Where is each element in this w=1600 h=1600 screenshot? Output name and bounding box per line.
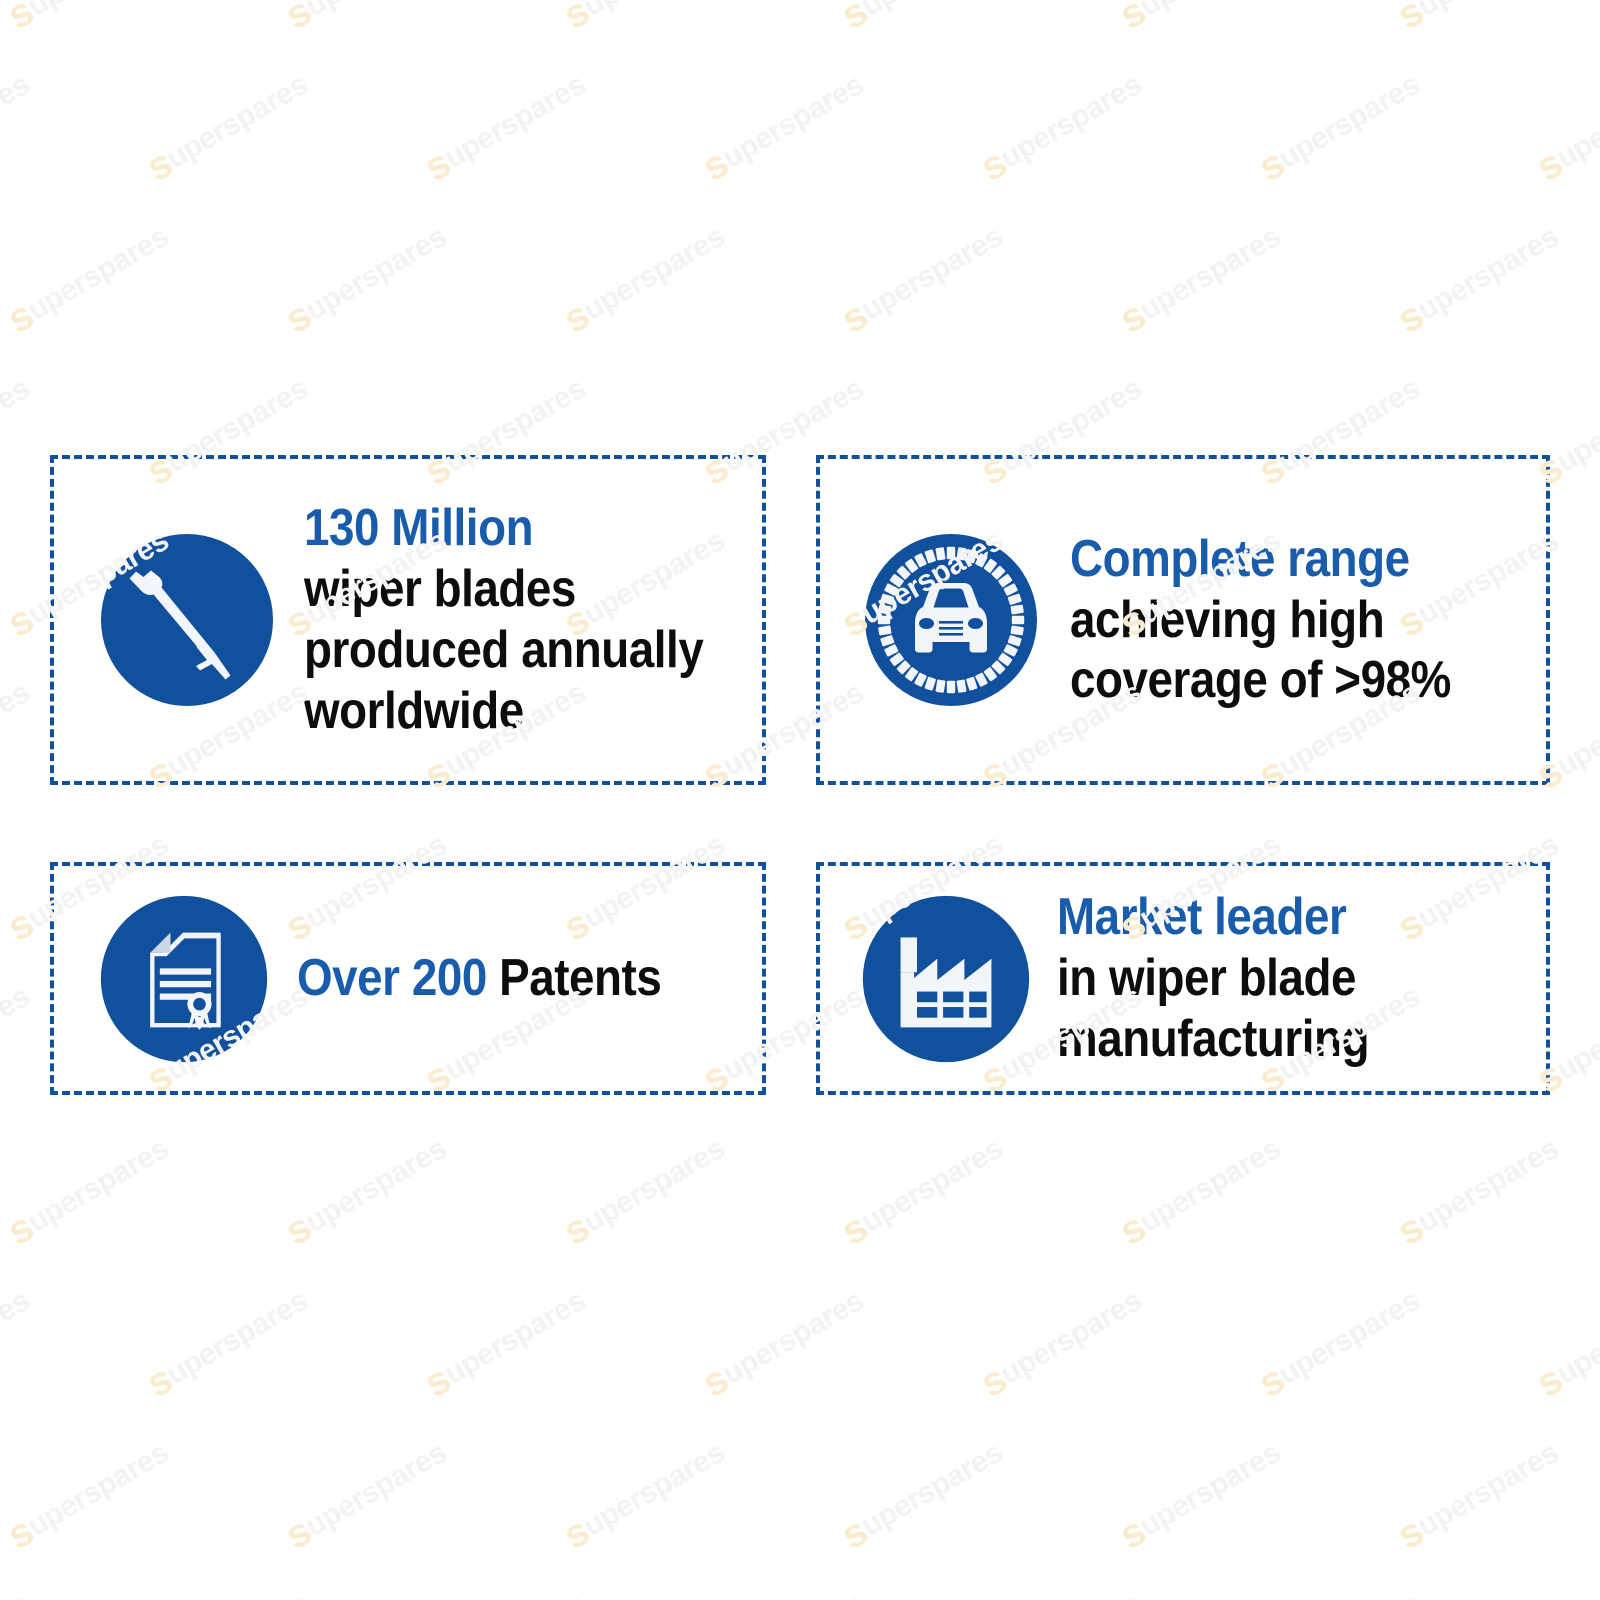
card-line: achieving high: [1070, 590, 1489, 651]
watermark-text: superspares: [973, 63, 1150, 191]
card-line: produced annually: [304, 620, 707, 681]
card-line: wiper blades: [304, 559, 707, 620]
watermark-text: superspares: [139, 1583, 316, 1600]
watermark-text: superspares: [0, 1279, 38, 1407]
factory-icon: [838, 891, 1053, 1067]
card-line: in wiper blade: [1057, 948, 1487, 1009]
watermark-text: superspares: [0, 671, 38, 799]
watermark-text: superspares: [556, 0, 733, 39]
card-coverage-range[interactable]: Complete range achieving high coverage o…: [816, 455, 1550, 785]
card-line: manufacturing: [1057, 1009, 1487, 1070]
watermark-text: superspares: [1251, 63, 1428, 191]
card-patents-text: Over 200 Patents: [297, 948, 706, 1009]
watermark-text: superspares: [278, 1431, 455, 1559]
watermark-text: superspares: [0, 0, 177, 39]
card-line: Market leader: [1057, 887, 1487, 948]
watermark-text: superspares: [0, 63, 38, 191]
watermark-text: superspares: [278, 0, 455, 39]
watermark-text: superspares: [556, 1127, 733, 1255]
watermark-text: superspares: [417, 63, 594, 191]
watermark-text: superspares: [0, 975, 38, 1103]
card-patents[interactable]: Over 200 Patents: [50, 862, 766, 1095]
car-in-ring-icon: [836, 529, 1066, 711]
card-coverage-range-text: Complete range achieving high coverage o…: [1070, 529, 1489, 711]
wiper-blade-icon: [72, 529, 302, 711]
watermark-text: superspares: [1390, 215, 1567, 343]
card-line-highlight: Over 200: [297, 949, 499, 1007]
watermark-text: superspares: [417, 1279, 594, 1407]
watermark-text: superspares: [139, 1279, 316, 1407]
watermark-text: superspares: [139, 63, 316, 191]
watermark-text: superspares: [1112, 215, 1289, 343]
infographic-canvas: supersparessupersparessupersparessupersp…: [0, 0, 1600, 1600]
watermark-text: superspares: [834, 0, 1011, 39]
watermark-text: superspares: [0, 1127, 177, 1255]
feature-card-grid: 130 Million wiper blades produced annual…: [50, 455, 1550, 1095]
patent-certificate-icon: [76, 891, 291, 1067]
watermark-text: superspares: [834, 1431, 1011, 1559]
card-wiper-production[interactable]: 130 Million wiper blades produced annual…: [50, 455, 766, 785]
card-line: coverage of >98%: [1070, 650, 1489, 711]
card-line: worldwide: [304, 681, 707, 742]
watermark-text: superspares: [1112, 1431, 1289, 1559]
watermark-text: superspares: [1390, 1127, 1567, 1255]
watermark-text: superspares: [1251, 1583, 1428, 1600]
card-line: 130 Million: [304, 498, 707, 559]
watermark-text: superspares: [973, 1279, 1150, 1407]
watermark-text: superspares: [973, 1583, 1150, 1600]
watermark-text: superspares: [1112, 1127, 1289, 1255]
watermark-text: superspares: [834, 215, 1011, 343]
watermark-text: superspares: [278, 1127, 455, 1255]
card-market-leader[interactable]: Market leader in wiper blade manufacturi…: [816, 862, 1550, 1095]
watermark-text: superspares: [556, 1431, 733, 1559]
watermark-text: superspares: [1251, 1279, 1428, 1407]
watermark-text: superspares: [695, 1583, 872, 1600]
card-market-leader-text: Market leader in wiper blade manufacturi…: [1057, 887, 1487, 1069]
card-line: Over 200 Patents: [297, 948, 706, 1009]
watermark-text: superspares: [1529, 1583, 1600, 1600]
watermark-text: superspares: [556, 215, 733, 343]
watermark-text: superspares: [1529, 1279, 1600, 1407]
watermark-text: superspares: [695, 63, 872, 191]
watermark-text: superspares: [1112, 0, 1289, 39]
watermark-text: superspares: [1390, 0, 1567, 39]
watermark-text: superspares: [0, 1431, 177, 1559]
watermark-text: superspares: [0, 215, 177, 343]
watermark-text: superspares: [417, 1583, 594, 1600]
watermark-text: superspares: [0, 1583, 38, 1600]
watermark-text: superspares: [834, 1127, 1011, 1255]
card-line: Complete range: [1070, 529, 1489, 590]
watermark-text: superspares: [1529, 63, 1600, 191]
card-line-rest: Patents: [499, 949, 661, 1007]
card-wiper-production-text: 130 Million wiper blades produced annual…: [304, 498, 707, 741]
watermark-text: superspares: [0, 367, 38, 495]
watermark-text: superspares: [278, 215, 455, 343]
watermark-text: superspares: [1390, 1431, 1567, 1559]
watermark-text: superspares: [695, 1279, 872, 1407]
